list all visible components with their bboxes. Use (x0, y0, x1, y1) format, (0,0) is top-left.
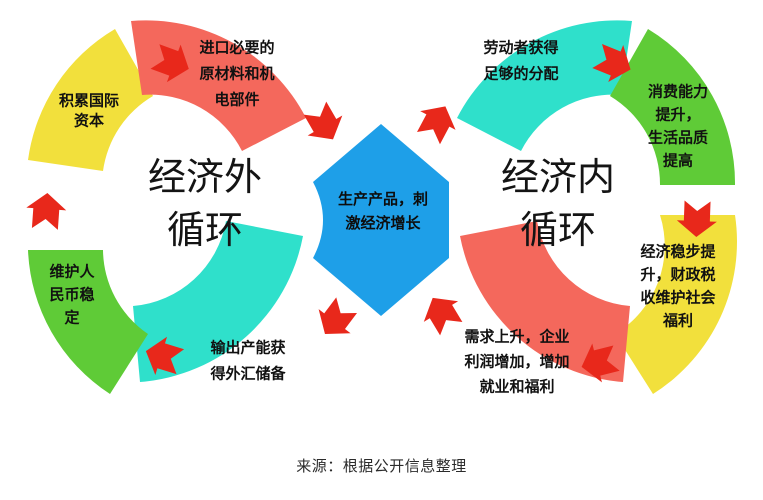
label-accumulate-capital-line2: 资本 (74, 112, 104, 130)
left-hub-label-line1: 经济外 (148, 155, 262, 199)
diagram-canvas: 经济外 循环 积累国际 资本 进口必要的 原材料和机 电部件 输出产能获 得外汇… (0, 0, 763, 500)
label-economy-steady-tax-line4: 福利 (662, 312, 693, 330)
label-demand-rise-line2: 利润增加，增加 (464, 353, 569, 371)
arrow-right-red-to-center-icon (416, 288, 469, 339)
left-cycle-group: 经济外 循环 积累国际 资本 进口必要的 原材料和机 电部件 输出产能获 得外汇… (28, 20, 306, 394)
arrow-left-red-to-center-icon (298, 98, 351, 149)
label-economy-steady-tax-line1: 经济稳步提 (640, 243, 716, 261)
label-economy-steady-tax-line2: 升，财政税 (640, 266, 715, 284)
label-accumulate-capital-line1: 积累国际 (59, 92, 119, 110)
right-hub-label-line1: 经济内 (501, 155, 615, 199)
left-hub-label-line2: 循环 (167, 208, 243, 252)
arrow-left-center-to-teal-icon (309, 293, 363, 346)
label-workers-distribution-line2: 足够的分配 (483, 65, 558, 83)
source-note: 来源：根据公开信息整理 (0, 455, 763, 476)
label-demand-rise-line3: 就业和福利 (479, 378, 554, 396)
label-maintain-rmb-line2: 民币稳 (49, 286, 94, 304)
right-cycle-group: 经济内 循环 劳动者获得 足够的分配 消费能力 提升， 生活品质 提高 经济稳步… (457, 20, 737, 395)
right-hub-label-line2: 循环 (520, 208, 596, 252)
arrow-left-green-to-yellow-icon (25, 192, 67, 231)
label-maintain-rmb-line3: 定 (64, 309, 79, 327)
label-consumption-ability-line3: 生活品质 (648, 129, 708, 147)
center-core-label-line2: 激经济增长 (345, 214, 421, 232)
label-export-capacity-line2: 得外汇储备 (209, 365, 286, 383)
label-consumption-ability-line1: 消费能力 (648, 83, 708, 101)
label-maintain-rmb-line1: 维护人 (49, 263, 95, 281)
label-import-materials-line1: 进口必要的 (199, 39, 274, 57)
center-core-label-line1: 生产产品，刺 (338, 190, 428, 208)
label-consumption-ability-line4: 提高 (663, 152, 693, 170)
label-import-materials-line3: 电部件 (214, 91, 259, 109)
label-economy-steady-tax-line3: 收维护社会 (640, 289, 715, 307)
arrow-right-center-to-teal-icon (411, 97, 463, 148)
center-core-group: 生产产品，刺 激经济增长 (313, 124, 449, 316)
label-export-capacity-line1: 输出产能获 (210, 339, 285, 357)
dual-circulation-diagram: 经济外 循环 积累国际 资本 进口必要的 原材料和机 电部件 输出产能获 得外汇… (0, 0, 763, 500)
label-demand-rise-line1: 需求上升，企业 (464, 328, 569, 346)
label-import-materials-line2: 原材料和机 (199, 65, 274, 83)
label-workers-distribution-line1: 劳动者获得 (483, 39, 558, 57)
label-consumption-ability-line2: 提升， (655, 106, 700, 124)
